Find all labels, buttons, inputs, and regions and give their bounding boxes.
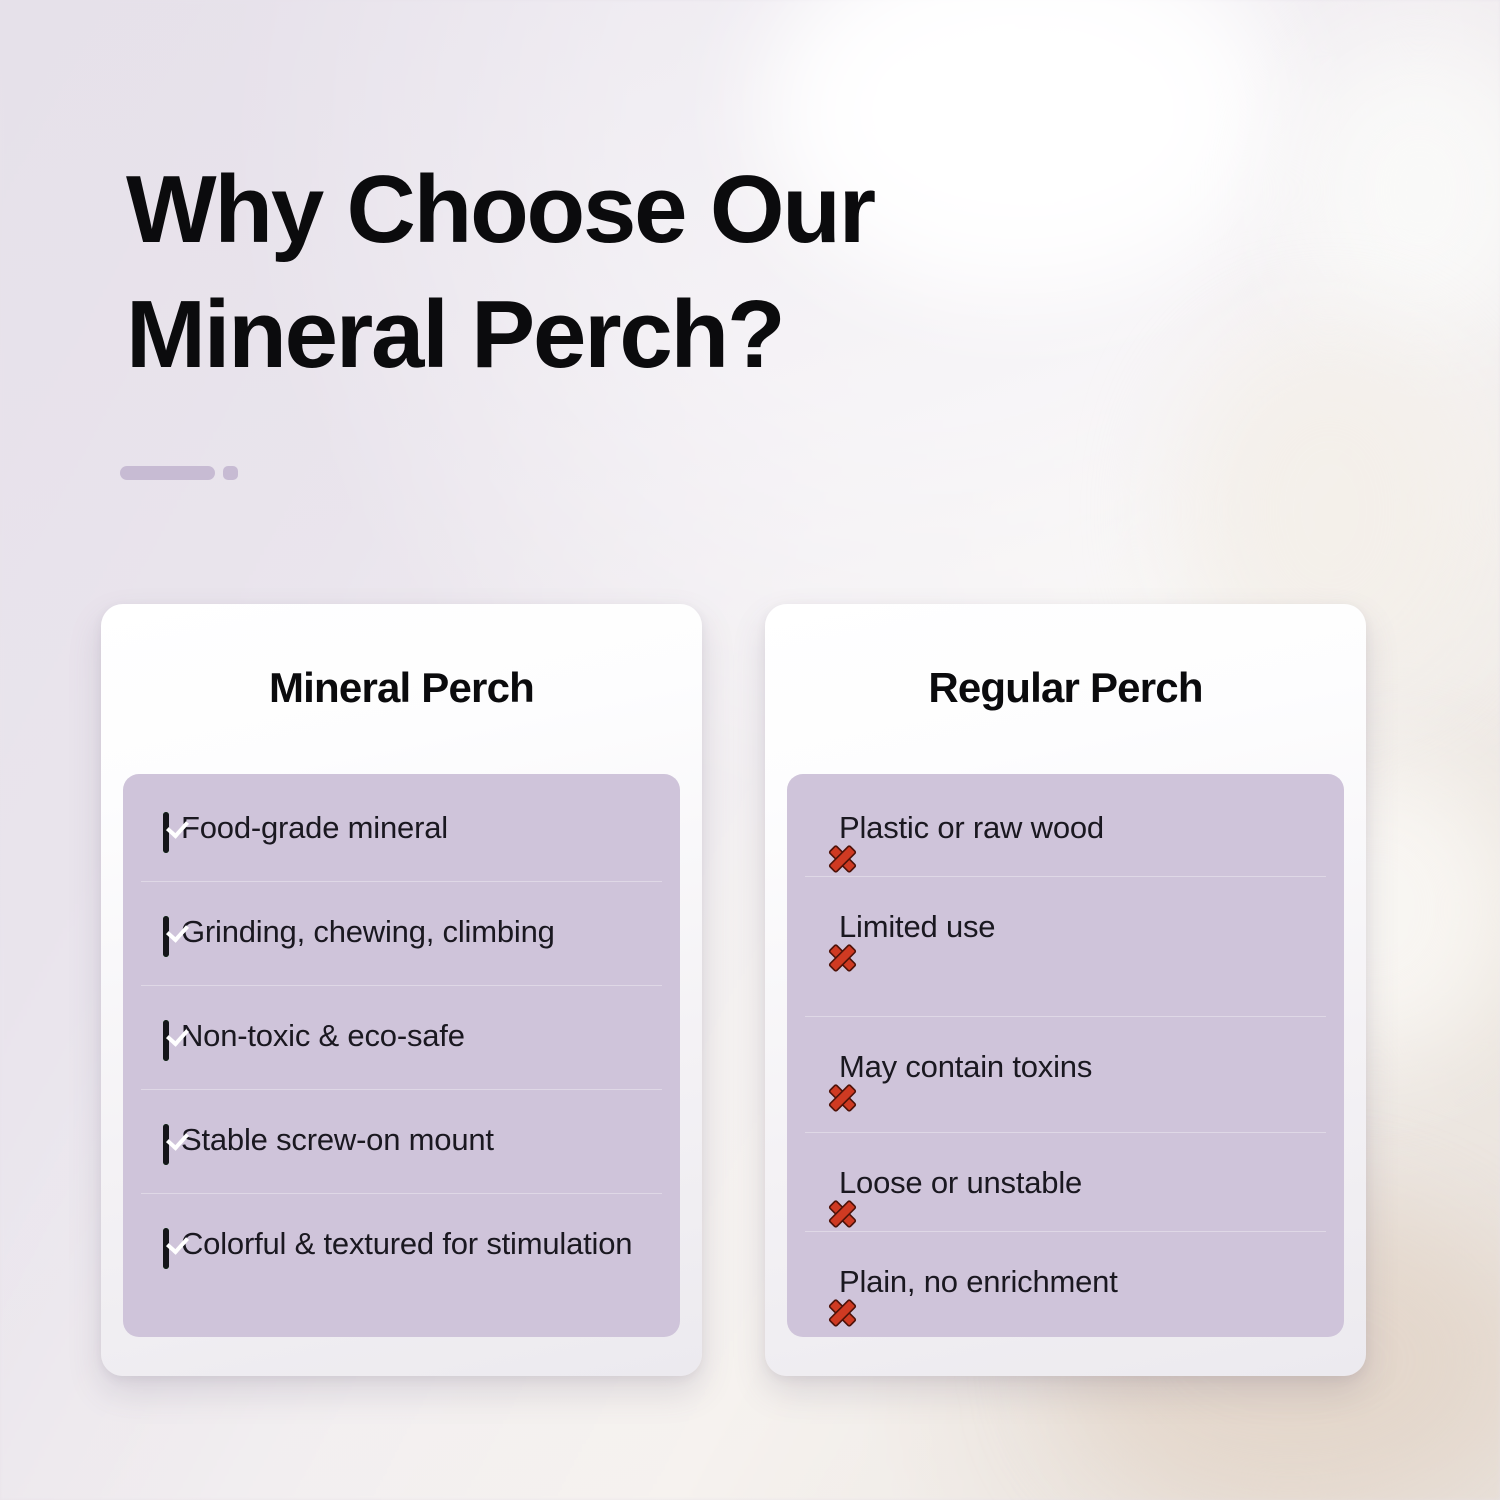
list-item: Grinding, chewing, climbing [163,882,674,985]
list-item-label: Food-grade mineral [181,810,448,845]
check-box-icon [163,1225,169,1272]
list-item: Food-grade mineral [163,774,674,881]
list-item: Limited use [827,877,1338,1016]
list-item: Plastic or raw wood [827,774,1338,876]
page-title-line-1: Why Choose Our [126,156,874,263]
page-title: Why Choose Our Mineral Perch? [126,148,1126,398]
check-box-icon [163,809,169,856]
list-item-label: Plain, no enrichment [839,1264,1118,1299]
list-item: Plain, no enrichment [827,1232,1338,1330]
check-box-icon [163,913,169,960]
list-item-label: Loose or unstable [839,1165,1082,1200]
card-heading-regular-perch: Regular Perch [765,664,1366,712]
page-title-line-2: Mineral Perch? [126,281,783,388]
list-item: Loose or unstable [827,1133,1338,1231]
feature-list-regular-perch: Plastic or raw wood Limited use May cont… [787,774,1344,1331]
list-item: Colorful & textured for stimulation [163,1194,674,1297]
check-box-icon [163,1121,169,1168]
divider-bar [120,466,215,480]
list-item: Non-toxic & eco-safe [163,986,674,1089]
title-divider [120,466,238,480]
comparison-card-regular-perch: Regular Perch Plastic or raw wood Limite… [765,604,1366,1376]
list-item-label: Limited use [839,909,995,944]
list-item-label: Colorful & textured for stimulation [181,1226,632,1261]
list-item-label: Grinding, chewing, climbing [181,914,555,949]
comparison-card-mineral-perch: Mineral Perch Food-grade mineral Grindin… [101,604,702,1376]
list-item: May contain toxins [827,1017,1338,1132]
card-heading-mineral-perch: Mineral Perch [101,664,702,712]
feature-panel-mineral-perch: Food-grade mineral Grinding, chewing, cl… [123,774,680,1337]
list-item-label: May contain toxins [839,1049,1092,1084]
list-item: Stable screw-on mount [163,1090,674,1193]
feature-list-mineral-perch: Food-grade mineral Grinding, chewing, cl… [123,774,680,1298]
check-box-icon [163,1017,169,1064]
list-item-label: Plastic or raw wood [839,810,1104,845]
list-item-label: Non-toxic & eco-safe [181,1018,465,1053]
feature-panel-regular-perch: Plastic or raw wood Limited use May cont… [787,774,1344,1337]
divider-dot [223,466,238,480]
list-item-label: Stable screw-on mount [181,1122,494,1157]
page-content: Why Choose Our Mineral Perch? Mineral Pe… [0,0,1500,1500]
